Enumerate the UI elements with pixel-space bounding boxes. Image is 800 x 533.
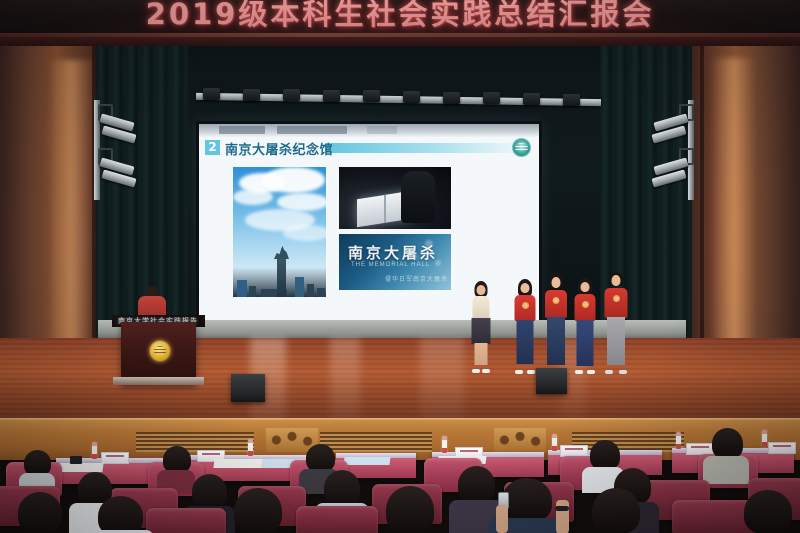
audience-member [380,486,442,533]
auditorium-seat [296,506,378,533]
audience-head [386,486,434,533]
member-red-tshirt [545,290,567,318]
water-bottle [442,436,447,453]
slide-number-badge: 2 [205,140,220,155]
floor-light-reflection [420,338,464,424]
audience-member [738,490,800,533]
audience-head [98,496,143,533]
member-jeans [547,317,565,365]
side-lighting-rig-left [92,100,150,200]
member-shoe [587,370,595,374]
truss-light-fixture [563,94,580,106]
truss-light-fixture [283,89,300,101]
audience-head [458,466,495,503]
audience-head [324,470,360,506]
presenter-skirt [472,318,491,344]
member-head [581,282,590,292]
truss-light-fixture [483,92,500,104]
audience-head [306,444,335,472]
raised-arm [496,505,508,533]
member-grey-trousers [607,317,625,365]
floor-light-reflection [330,338,360,424]
member-shoe [605,370,613,374]
slide-title-rule [325,143,525,153]
audience-head [712,428,743,459]
podium-base [113,377,204,385]
audience-head [18,492,62,533]
truss-light-fixture [443,92,460,104]
member-shoe [515,370,523,374]
judge-name-card [768,442,796,454]
tshirt-logo-icon [552,297,559,304]
monument-statue [274,246,289,259]
water-bottle [92,442,97,459]
water-bottle [762,430,767,447]
truss-light-fixture [203,88,220,100]
member-red-tshirt [515,295,536,321]
visitor-silhouette [401,171,435,223]
auditorium-seat [146,508,226,533]
audience-member [12,492,70,533]
audience-head [163,446,191,473]
presenter-shoe [482,369,490,373]
auditorium-photo: 2 南京大屠杀纪念馆 [0,0,800,533]
apron-vent-grille [136,432,254,452]
water-bottle [552,434,557,451]
presenter-top [473,296,490,319]
audience-member [228,488,290,533]
member-head [551,277,560,288]
memorial-book-photo [339,167,451,229]
member-head [612,275,621,286]
audience-member [586,488,648,533]
tshirt-logo-icon [522,302,529,309]
member-jeans [517,320,534,364]
apron-decorative-medallion [494,428,546,452]
memorial-title-photo: 南京大屠杀 THE MEMORIAL HALL 侵华日军南京大屠杀 [339,234,451,290]
memorial-overlay-subtitle-2: 侵华日军南京大屠杀 [385,274,448,283]
judge-papers [58,463,103,472]
wristwatch [555,506,569,511]
slide-title-bar: 2 南京大屠杀纪念馆 [205,140,527,157]
audience-head [592,488,640,533]
truss-light-fixture [363,90,380,102]
truss-light-fixture [323,90,340,102]
event-title-banner: 2019级本科生社会实践总结汇报会 [0,0,800,33]
banner-shelf [0,33,800,46]
podium-gold-emblem-icon [149,340,171,362]
event-title-text: 2019级本科生社会实践总结汇报会 [0,0,800,31]
presenter-head [477,285,486,295]
book-spine [384,195,386,223]
member-shoe [527,370,535,374]
member-red-tshirt [575,294,596,321]
truss-light-fixture [403,91,420,103]
audience-head [590,440,620,470]
team-member-2 [543,273,568,374]
audience-member [706,428,746,484]
memorial-overlay-title: 南京大屠杀 [348,242,438,263]
raised-arm [556,500,569,533]
audience-member [92,496,150,533]
speaker-podium [121,322,196,384]
team-member-3 [573,278,597,374]
presenter-shoe [472,369,480,373]
team-member-1 [513,279,537,374]
slide-title: 南京大屠杀纪念馆 [225,139,333,158]
truss-light-fixture [243,89,260,101]
member-red-tshirt [605,288,628,318]
audience-head [502,478,552,522]
judge-tablet [70,456,82,464]
memorial-overlay-subtitle: THE MEMORIAL HALL [351,262,430,268]
stage-monitor-speaker [536,368,567,394]
audience-shoulders [703,456,749,484]
water-bottle [676,432,681,449]
audience-head [744,490,792,533]
side-lighting-rig-right [648,100,706,200]
team-member-4 [603,272,629,374]
member-shoe [619,370,627,374]
slide-university-emblem-icon [512,138,531,157]
tshirt-logo-icon [582,301,589,308]
audience-head [234,488,282,533]
water-bottle [248,439,253,456]
host-presenter [470,281,492,373]
member-jeans [577,320,594,366]
presenter-legs [475,343,488,365]
judge-name-card [101,452,129,464]
slide-top-strip [199,124,539,137]
truss-light-fixture [523,93,540,105]
tshirt-logo-icon [613,295,620,302]
member-head [521,283,530,293]
audience-head [192,474,227,509]
judge-papers [343,457,390,465]
member-shoe [575,370,583,374]
stage-monitor-speaker [231,374,265,402]
memorial-monument [277,259,286,297]
judge-papers [213,459,262,468]
sky-monument-photo [233,167,326,297]
